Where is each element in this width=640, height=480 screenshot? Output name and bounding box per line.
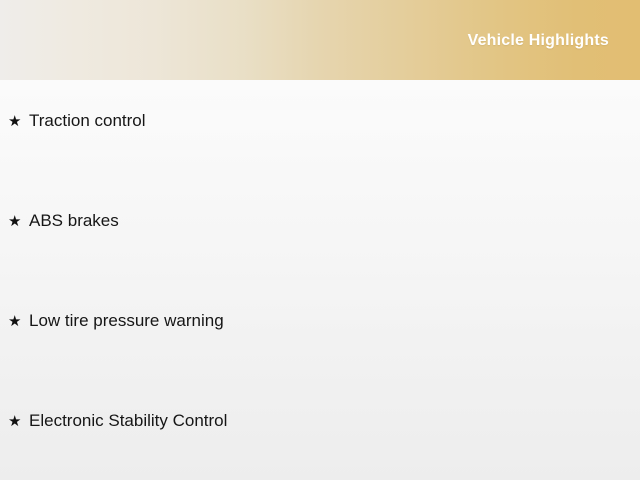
list-item: ★ Traction control — [0, 112, 640, 212]
list-item-label: ABS brakes — [29, 212, 119, 229]
vehicle-highlights-panel: Vehicle Highlights ★ Traction control ★ … — [0, 0, 640, 480]
list-item-label: Electronic Stability Control — [29, 412, 227, 429]
list-item-label: Traction control — [29, 112, 146, 129]
star-icon: ★ — [8, 114, 29, 129]
list-item: ★ Electronic Stability Control — [0, 412, 640, 480]
page-title: Vehicle Highlights — [468, 30, 640, 50]
star-icon: ★ — [8, 314, 29, 329]
highlights-content: ★ Traction control ★ ABS brakes ★ Low ti… — [0, 80, 640, 480]
star-icon: ★ — [8, 214, 29, 229]
list-item: ★ ABS brakes — [0, 212, 640, 312]
list-item-label: Low tire pressure warning — [29, 312, 224, 329]
list-item: ★ Low tire pressure warning — [0, 312, 640, 412]
star-icon: ★ — [8, 414, 29, 429]
panel-header: Vehicle Highlights — [0, 0, 640, 80]
vehicle-highlights-list: ★ Traction control ★ ABS brakes ★ Low ti… — [0, 112, 640, 480]
